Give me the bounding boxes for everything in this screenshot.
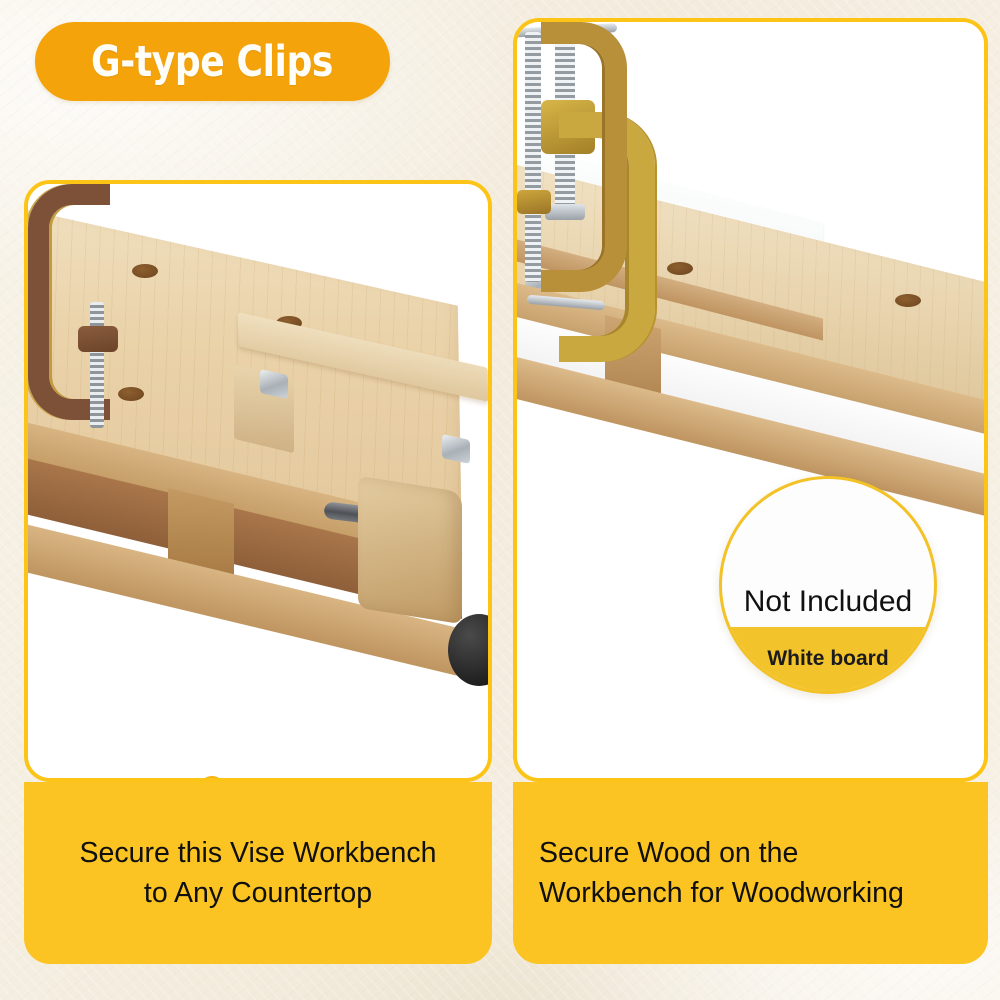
caption-left-line1: Secure this Vise Workbench xyxy=(80,837,437,869)
clamp-collar xyxy=(517,190,551,214)
product-photo-left xyxy=(28,184,488,778)
caption-left: Secure this Vise Workbench to Any Counte… xyxy=(24,782,492,964)
vise-outer-jaw xyxy=(358,476,462,624)
dog-hole xyxy=(895,294,921,307)
g-clamp-marker-dot-icon xyxy=(194,771,230,778)
caption-right-text: Secure Wood on the Workbench for Woodwor… xyxy=(539,833,962,914)
clamp-pad xyxy=(78,326,118,352)
dog-hole xyxy=(667,262,693,275)
caption-right-line1: Secure Wood on the xyxy=(539,837,798,869)
not-included-heading: Not Included xyxy=(744,585,912,619)
dog-hole xyxy=(118,387,144,401)
photo-panel-left xyxy=(24,180,492,782)
title-badge-label: G-type Clips xyxy=(92,37,334,87)
not-included-item: White board xyxy=(767,647,888,671)
caption-left-text: Secure this Vise Workbench to Any Counte… xyxy=(50,833,466,914)
product-photo-right xyxy=(517,22,984,778)
caption-right-line2: Workbench for Woodworking xyxy=(539,877,904,909)
caption-left-line2: to Any Countertop xyxy=(144,877,372,909)
photo-panel-right xyxy=(513,18,988,782)
clamp-frame xyxy=(541,22,627,292)
clamp-screw xyxy=(90,302,104,428)
dog-hole xyxy=(132,264,158,278)
title-badge: G-type Clips xyxy=(35,22,390,101)
not-included-badge: Not Included White board xyxy=(719,476,937,694)
caption-right: Secure Wood on the Workbench for Woodwor… xyxy=(513,782,988,964)
clamp-screw xyxy=(525,32,541,282)
